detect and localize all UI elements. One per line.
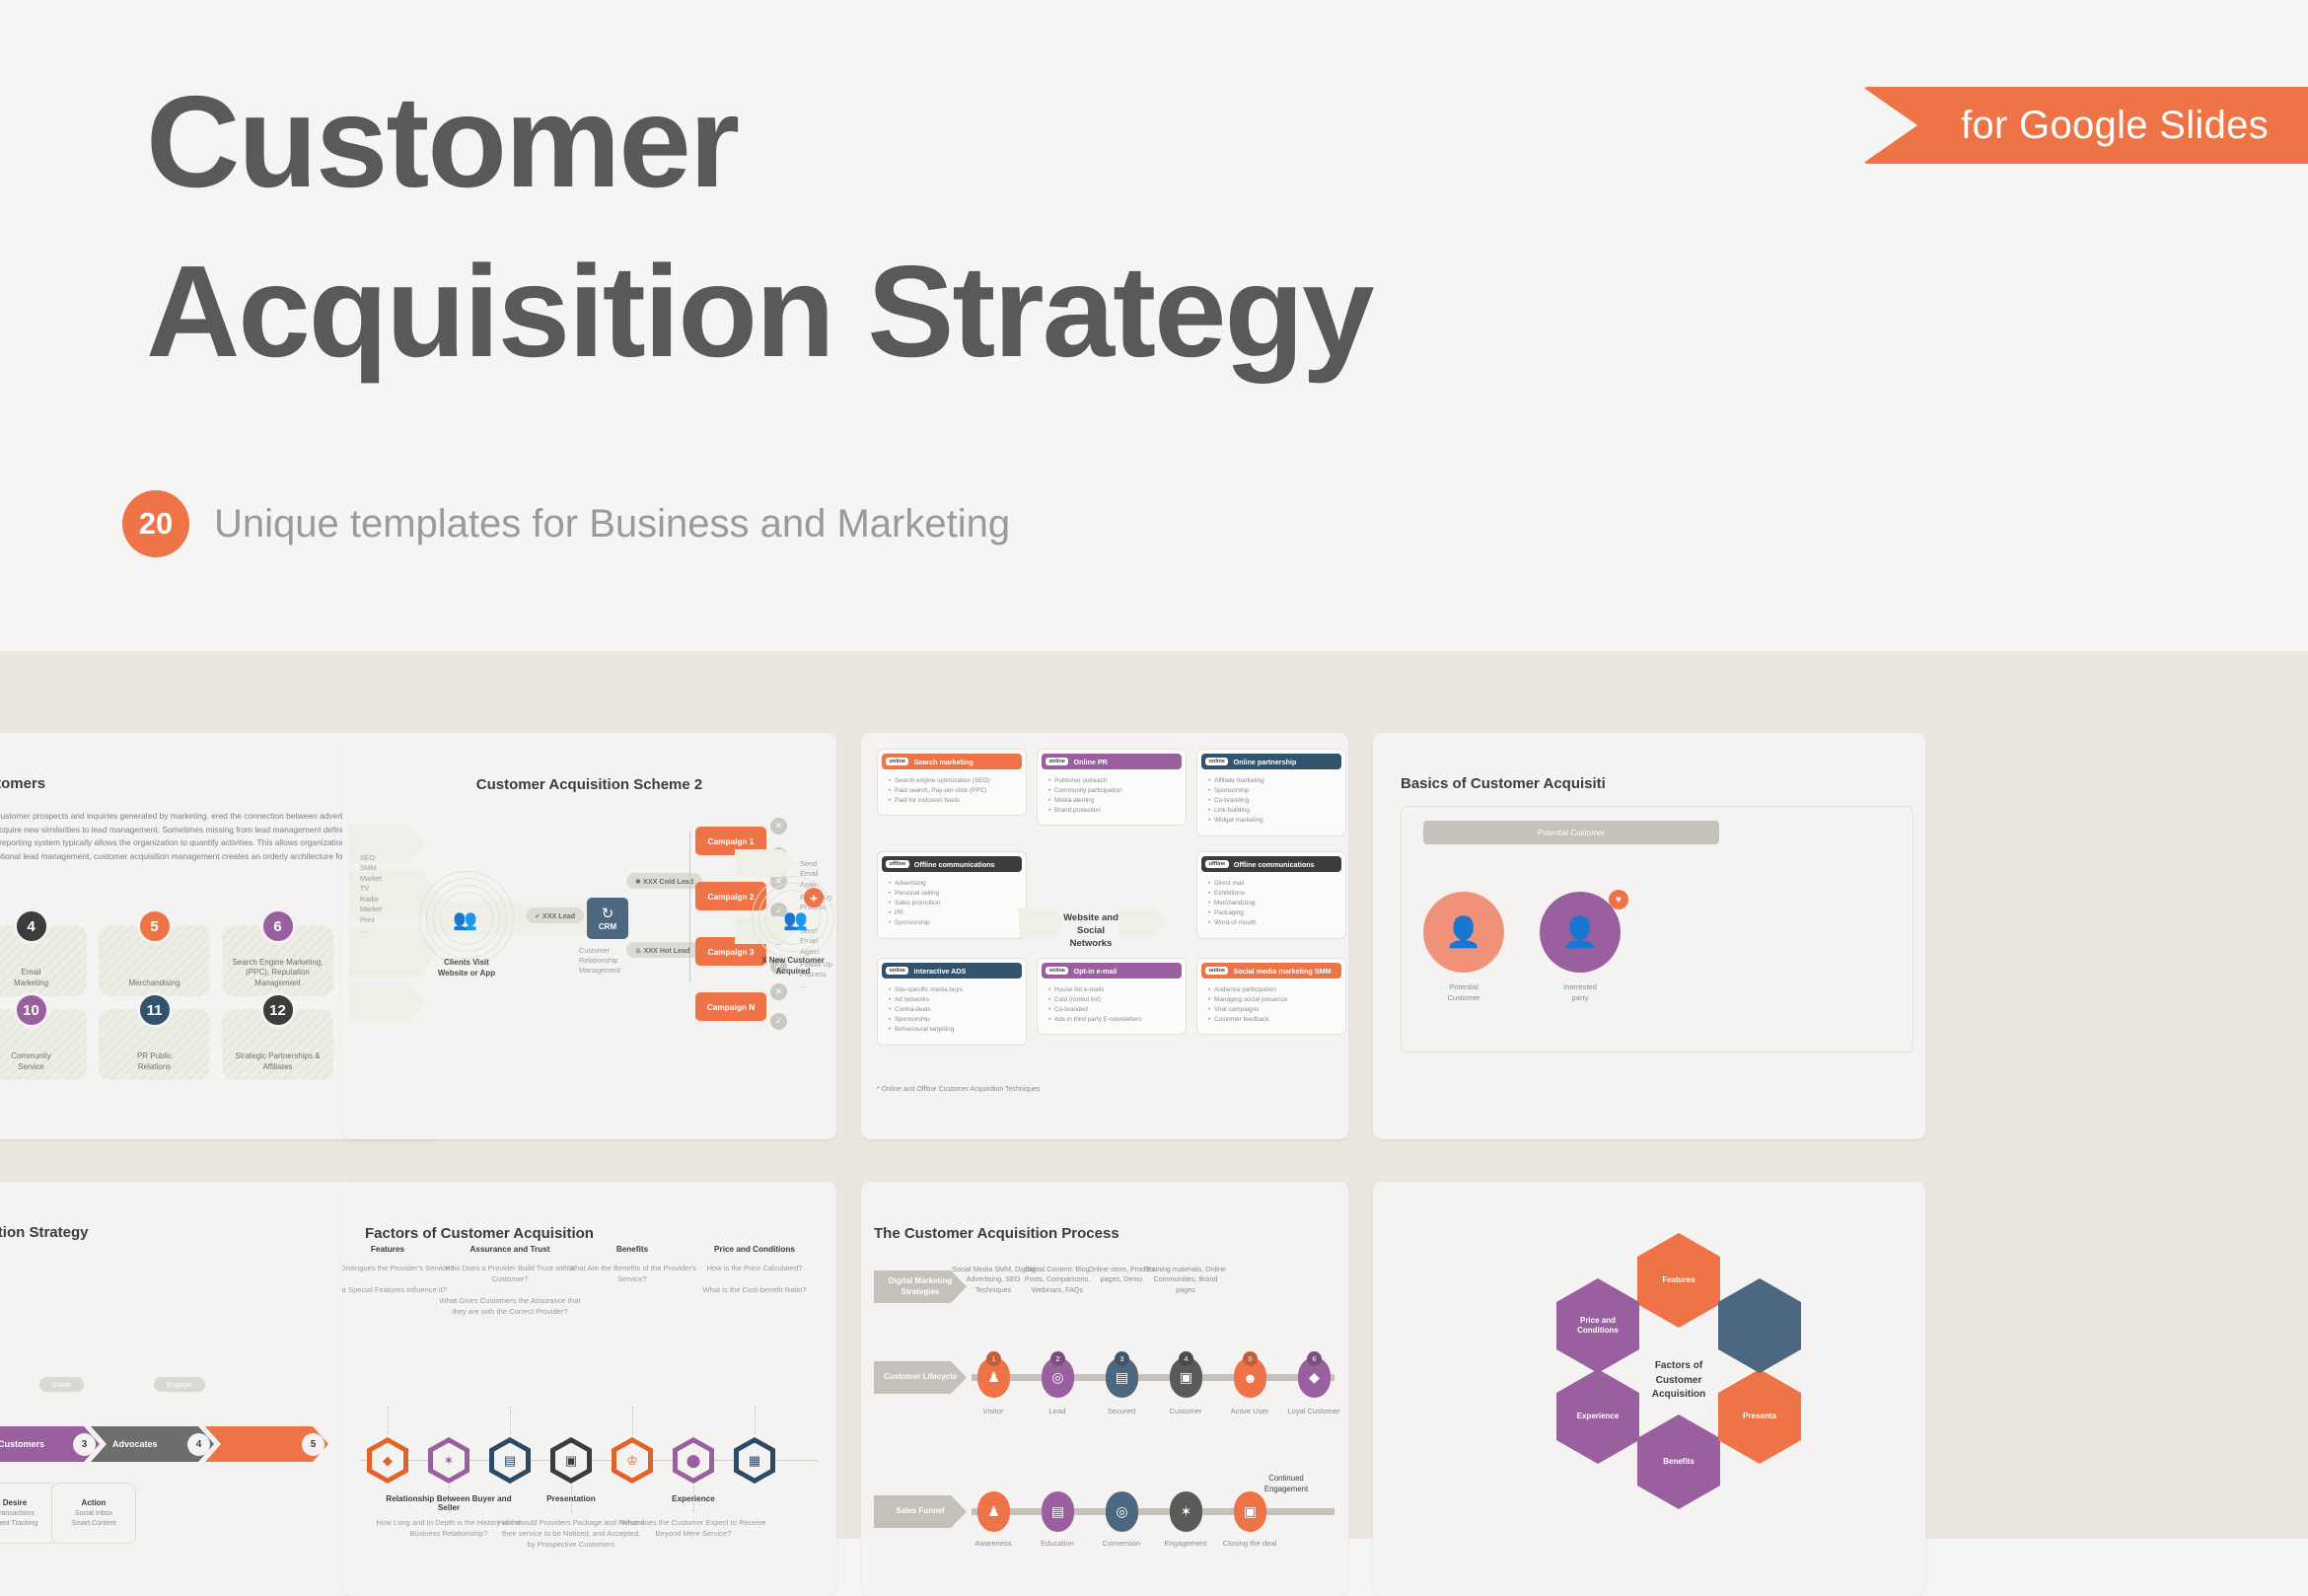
technique-item: Widget marketing bbox=[1208, 816, 1341, 826]
factor-head: Price and Conditions bbox=[690, 1245, 819, 1254]
thumb-card-scheme-2[interactable]: Customer Acquisition Scheme 2 SEO SMM Ma… bbox=[342, 733, 836, 1139]
funnel-node[interactable]: ♟ bbox=[977, 1491, 1010, 1532]
reject-icon[interactable]: ✕ bbox=[770, 818, 787, 834]
factor-body: How is the Price Calculated? What is the… bbox=[681, 1263, 829, 1295]
technique-item: Packaging bbox=[1208, 908, 1341, 918]
dotted-leader bbox=[388, 1407, 389, 1434]
chevron-shape bbox=[348, 983, 425, 1023]
card-title: Customer Acquisition Scheme 2 bbox=[342, 776, 836, 793]
wheel-segment[interactable]: Features bbox=[1637, 1233, 1720, 1328]
technique-item: Search engine optimization (SEO) bbox=[889, 776, 1022, 786]
technique-tag: online bbox=[886, 967, 908, 976]
dotted-leader bbox=[571, 1486, 572, 1513]
tile-label: Email Marketing bbox=[0, 968, 87, 988]
wheel-center-label: Factors of Customer Acquisition bbox=[1620, 1359, 1738, 1403]
technique-item: Viral campaigns bbox=[1208, 1005, 1341, 1015]
technique-box[interactable]: onlineOnline partnershipAffiliate market… bbox=[1196, 749, 1346, 836]
tile-label: Strategic Partnerships & Affiliates bbox=[222, 1052, 333, 1072]
tile-number: 5 bbox=[137, 908, 173, 944]
techniques-footnote: * Online and Offline Customer Acquisitio… bbox=[877, 1086, 1041, 1093]
tile-number: 10 bbox=[14, 992, 49, 1028]
tile-label: Community Service bbox=[0, 1052, 87, 1072]
lifecycle-rail bbox=[972, 1374, 1334, 1381]
lifecycle-node-number: 2 bbox=[1050, 1351, 1065, 1366]
ribbon-label: for Google Slides bbox=[1961, 104, 2269, 148]
factor-hexagon[interactable]: ♔ bbox=[612, 1437, 653, 1484]
lead-pill: ✓ XXX Lead bbox=[526, 907, 584, 923]
factors-wheel: FeaturesPrice and ConditionsExperienceBe… bbox=[1511, 1221, 1846, 1557]
card-title: Factors of Customer Acquisition bbox=[365, 1225, 594, 1242]
technique-box[interactable]: onlineSearch marketingSearch engine opti… bbox=[877, 749, 1027, 816]
dotted-leader bbox=[449, 1486, 450, 1513]
stage-number: 3 bbox=[73, 1433, 96, 1456]
campaign-box[interactable]: Campaign N bbox=[695, 992, 766, 1021]
technique-item: House list e-mails bbox=[1048, 985, 1182, 995]
technique-box-header: onlineInteractive ADS bbox=[882, 963, 1022, 979]
lane-label: Customer Lifecycle bbox=[884, 1372, 957, 1382]
crm-label: CRM bbox=[599, 922, 616, 931]
technique-box-header: onlineSocial media marketing SMM bbox=[1201, 963, 1341, 979]
technique-item-list: Publisher outreachCommunity participatio… bbox=[1048, 776, 1182, 816]
reject-icon[interactable]: ✕ bbox=[770, 983, 787, 1000]
technique-item: Managing social presence bbox=[1208, 995, 1341, 1005]
tile-number: 12 bbox=[260, 992, 296, 1028]
lifecycle-node-number: 4 bbox=[1179, 1351, 1193, 1366]
technique-item: Ads in third party E-newsletters bbox=[1048, 1015, 1182, 1025]
stage-pill: Engage bbox=[154, 1377, 205, 1392]
acquired-caption: X New Customer Acquired bbox=[744, 956, 836, 978]
technique-box[interactable]: offlineOffline communicationsAdvertising… bbox=[877, 851, 1027, 939]
detail-sub: Social Inbox Smart Content bbox=[71, 1509, 115, 1528]
people-icon: 👥 bbox=[783, 907, 808, 932]
technique-item: Merchandizing bbox=[1208, 899, 1341, 908]
factor-head: Features bbox=[342, 1245, 452, 1254]
technique-tag: online bbox=[886, 758, 908, 766]
funnel-node[interactable]: ◎ bbox=[1106, 1491, 1138, 1532]
technique-item: Contra-deals bbox=[889, 1005, 1022, 1015]
acquisition-tile[interactable]: 6Search Engine Marketing, (PPC), Reputat… bbox=[222, 925, 333, 996]
dotted-leader bbox=[693, 1486, 694, 1513]
chevron-shape bbox=[1119, 908, 1165, 938]
heart-icon: ♥ bbox=[1609, 890, 1628, 909]
technique-title: Offline communications bbox=[1234, 860, 1315, 869]
card-title: Basics of Customer Acquisiti bbox=[1401, 775, 1606, 792]
technique-item: Cold (rented list) bbox=[1048, 995, 1182, 1005]
technique-title: Offline communications bbox=[914, 860, 995, 869]
technique-box-header: onlineOpt-in e-mail bbox=[1042, 963, 1182, 979]
technique-item: Customer feedback bbox=[1208, 1015, 1341, 1025]
detail-head: Desire bbox=[3, 1498, 27, 1507]
technique-tag: offline bbox=[886, 860, 909, 869]
technique-title: Interactive ADS bbox=[913, 967, 966, 976]
technique-tag: online bbox=[1205, 758, 1228, 766]
factor-icon: ▦ bbox=[739, 1443, 770, 1479]
factor-hexagon[interactable]: ▦ bbox=[734, 1437, 775, 1484]
technique-box-header: onlineOnline partnership bbox=[1201, 754, 1341, 769]
technique-item-list: AdvertisingPersonal sellingSales promoti… bbox=[889, 879, 1022, 929]
card-title: Customer Acquisition Strategy bbox=[0, 1224, 88, 1241]
detail-head: Action bbox=[82, 1498, 107, 1507]
technique-box[interactable]: offlineOffline communicationsDirect mail… bbox=[1196, 851, 1346, 939]
card-title: The Customer Acquisition Process bbox=[874, 1225, 1119, 1242]
subtitle-row: 20 Unique templates for Business and Mar… bbox=[122, 490, 1010, 557]
avatar-label: Potential Customer bbox=[1414, 982, 1513, 1003]
tile-number: 4 bbox=[14, 908, 49, 944]
technique-item: Site-specific media buys bbox=[889, 985, 1022, 995]
technique-box[interactable]: onlineSocial media marketing SMMAudience… bbox=[1196, 958, 1346, 1035]
tile-label: PR Public Relations bbox=[99, 1052, 210, 1072]
basics-panel: Potential Customer 👤 👤 ♥ Potential Custo… bbox=[1401, 806, 1913, 1052]
card-title: for Acquiring Customers bbox=[0, 775, 45, 792]
factor-icon: ◆ bbox=[372, 1443, 403, 1479]
technique-item: Exhibitions bbox=[1208, 889, 1341, 899]
technique-item: Media alerting bbox=[1048, 796, 1182, 806]
avatar-label: Interested party bbox=[1531, 982, 1629, 1003]
technique-tag: offline bbox=[1205, 860, 1229, 869]
cold-lead-pill: ✵ XXX Cold Lead bbox=[626, 873, 702, 889]
interested-party-avatar: 👤 bbox=[1540, 892, 1621, 973]
strategy-caption: Training materials, Online Communities, … bbox=[1144, 1265, 1227, 1295]
accept-icon[interactable]: ✓ bbox=[770, 1013, 787, 1030]
technique-item-list: Site-specific media buysAd networksContr… bbox=[889, 985, 1022, 1036]
factor-hexagon[interactable]: ▤ bbox=[489, 1437, 531, 1484]
thumb-card-factors-wheel[interactable]: FeaturesPrice and ConditionsExperienceBe… bbox=[1373, 1182, 1925, 1596]
plus-badge: + bbox=[804, 888, 824, 907]
technique-box-header: onlineOnline PR bbox=[1042, 754, 1182, 769]
funnel-rail bbox=[972, 1508, 1334, 1515]
source-channels-list: SEO SMM Market TV Radio Market Print ... bbox=[360, 853, 382, 936]
funnel-node[interactable]: ▤ bbox=[1042, 1491, 1074, 1532]
technique-box[interactable]: onlineOpt-in e-mailHouse list e-mailsCol… bbox=[1037, 958, 1187, 1035]
lifecycle-node-number: 5 bbox=[1243, 1351, 1258, 1366]
technique-item: Sponsorship bbox=[1208, 786, 1341, 796]
technique-item-list: House list e-mailsCold (rented list)Co-b… bbox=[1048, 985, 1182, 1025]
stage-detail-box[interactable]: DesireTransactions Event Tracking bbox=[0, 1483, 57, 1544]
subtitle-text: Unique templates for Business and Market… bbox=[214, 502, 1010, 546]
technique-item-list: Direct mailExhibitionsMerchandizingPacka… bbox=[1208, 879, 1341, 929]
technique-item: Personal selling bbox=[889, 889, 1022, 899]
technique-title: Online partnership bbox=[1233, 758, 1296, 766]
technique-item: Paid for inclusion feeds bbox=[889, 796, 1022, 806]
tile-label: Merchandising bbox=[99, 979, 210, 988]
technique-item: Sponsorship bbox=[889, 1015, 1022, 1025]
acquisition-tile[interactable]: 10Community Service bbox=[0, 1009, 87, 1080]
lane-label: Sales Funnel bbox=[896, 1506, 944, 1516]
technique-item: Co-branded bbox=[1048, 1005, 1182, 1015]
title-line-2: Acquisition Strategy bbox=[146, 247, 1625, 377]
title-line-1: Customer bbox=[146, 69, 738, 214]
continued-engagement-label: Continued Engagement bbox=[1242, 1474, 1331, 1495]
factor-hexagon[interactable]: ✶ bbox=[428, 1437, 469, 1484]
potential-customer-bar: Potential Customer bbox=[1423, 821, 1719, 844]
technique-item: PR bbox=[889, 908, 1022, 918]
technique-item: Direct mail bbox=[1208, 879, 1341, 889]
technique-title: Opt-in e-mail bbox=[1073, 967, 1117, 976]
dotted-leader bbox=[755, 1407, 756, 1434]
factor-icon: ▤ bbox=[494, 1443, 526, 1479]
thumb-card-techniques[interactable]: onlineSearch marketingSearch engine opti… bbox=[861, 733, 1348, 1139]
technique-item: Behavioural targeting bbox=[889, 1025, 1022, 1035]
refresh-icon: ↻ bbox=[602, 907, 614, 921]
people-icon: 👥 bbox=[453, 907, 477, 932]
technique-title: Social media marketing SMM bbox=[1233, 967, 1331, 976]
technique-item: Link-building bbox=[1208, 806, 1341, 816]
factor-hexagon[interactable]: ⬤ bbox=[673, 1437, 714, 1484]
stage-number: 4 bbox=[187, 1433, 210, 1456]
lifecycle-node-number: 1 bbox=[986, 1351, 1001, 1366]
technique-item: Advertising bbox=[889, 879, 1022, 889]
clients-visit-caption: Clients Visit Website or App bbox=[417, 958, 516, 979]
technique-item: Sponsorship bbox=[889, 918, 1022, 928]
technique-box[interactable]: onlineInteractive ADSSite-specific media… bbox=[877, 958, 1027, 1046]
technique-item: Ad networks bbox=[889, 995, 1022, 1005]
funnel-node-label: Closing the deal bbox=[1210, 1539, 1289, 1548]
technique-item: Sales promotion bbox=[889, 899, 1022, 908]
technique-box-header: offlineOffline communications bbox=[1201, 856, 1341, 872]
factor-hexagon[interactable]: ◆ bbox=[367, 1437, 408, 1484]
page-title: Customer Acquisition Strategy bbox=[146, 77, 1625, 377]
technique-item: Word-of-mouth bbox=[1208, 918, 1341, 928]
google-slides-ribbon: for Google Slides bbox=[1862, 87, 2308, 164]
factor-icon: ▣ bbox=[555, 1443, 587, 1479]
hot-lead-pill: ♨ XXX Hot Lead bbox=[626, 942, 699, 958]
stage-detail-box[interactable]: ActionSocial Inbox Smart Content bbox=[51, 1483, 136, 1544]
detail-sub: Transactions Event Tracking bbox=[0, 1509, 37, 1528]
factor-icon: ⬤ bbox=[678, 1443, 709, 1479]
tile-label: Search Engine Marketing, (PPC), Reputati… bbox=[222, 958, 333, 988]
factor-hexagon[interactable]: ▣ bbox=[550, 1437, 592, 1484]
lane-sales-funnel: Sales Funnel bbox=[874, 1495, 967, 1528]
funnel-node[interactable]: ✶ bbox=[1170, 1491, 1202, 1532]
acquisition-tile[interactable]: 12Strategic Partnerships & Affiliates bbox=[222, 1009, 333, 1080]
tile-number: 6 bbox=[260, 908, 296, 944]
dotted-leader bbox=[632, 1407, 633, 1434]
lifecycle-node-label: Loyal Customer bbox=[1274, 1407, 1348, 1415]
technique-tag: online bbox=[1205, 967, 1228, 976]
technique-item: Community participation bbox=[1048, 786, 1182, 796]
potential-customer-avatar: 👤 bbox=[1423, 892, 1504, 973]
factor-body: What does the Customer Expect to Receive… bbox=[619, 1517, 767, 1539]
technique-box-header: onlineSearch marketing bbox=[882, 754, 1022, 769]
technique-item: Paid search, Pay-per-click (PPC) bbox=[889, 786, 1022, 796]
factor-head: Assurance and Trust bbox=[446, 1245, 574, 1254]
technique-item: Co-branding bbox=[1208, 796, 1341, 806]
technique-item: Publisher outreach bbox=[1048, 776, 1182, 786]
technique-item-list: Search engine optimization (SEO)Paid sea… bbox=[889, 776, 1022, 806]
avatar-label-text: Potential Customer bbox=[1448, 982, 1480, 1002]
acquisition-tile[interactable]: 5Merchandising bbox=[99, 925, 210, 996]
dotted-leader bbox=[510, 1407, 511, 1434]
connector bbox=[689, 832, 690, 981]
stage-number: 5 bbox=[302, 1433, 325, 1456]
lane-customer-lifecycle: Customer Lifecycle bbox=[874, 1361, 967, 1394]
technique-title: Search marketing bbox=[913, 758, 973, 766]
lifecycle-node-number: 6 bbox=[1307, 1351, 1322, 1366]
thumb-card-factors[interactable]: Factors of Customer Acquisition ◆Feature… bbox=[342, 1182, 836, 1596]
thumb-card-process[interactable]: The Customer Acquisition Process Digital… bbox=[861, 1182, 1348, 1596]
technique-item: Audience participation bbox=[1208, 985, 1341, 995]
tile-number: 11 bbox=[137, 992, 173, 1028]
lifecycle-node-number: 3 bbox=[1115, 1351, 1129, 1366]
stage-pill: Close bbox=[39, 1377, 84, 1392]
technique-item: Brand protection bbox=[1048, 806, 1182, 816]
factor-icon: ✶ bbox=[433, 1443, 465, 1479]
acquisition-tile[interactable]: 4Email Marketing bbox=[0, 925, 87, 996]
crm-box: ↻ CRM bbox=[587, 898, 628, 939]
technique-item: Affiliate marketing bbox=[1208, 776, 1341, 786]
technique-title: Online PR bbox=[1073, 758, 1107, 766]
wheel-segment[interactable]: Benefits bbox=[1637, 1415, 1720, 1509]
technique-box[interactable]: onlineOnline PRPublisher outreachCommuni… bbox=[1037, 749, 1187, 826]
factor-icon: ♔ bbox=[616, 1443, 648, 1479]
thumb-card-basics[interactable]: Basics of Customer Acquisiti Potential C… bbox=[1373, 733, 1925, 1139]
factor-head: Benefits bbox=[568, 1245, 696, 1254]
hero-banner: Customer Acquisition Strategy for Google… bbox=[0, 0, 2308, 651]
technique-box-header: offlineOffline communications bbox=[882, 856, 1022, 872]
technique-item-list: Affiliate marketingSponsorshipCo-brandin… bbox=[1208, 776, 1341, 827]
avatar-label-text: Interested party bbox=[1563, 982, 1597, 1002]
technique-item-list: Audience participationManaging social pr… bbox=[1208, 985, 1341, 1025]
funnel-node[interactable]: ▣ bbox=[1234, 1491, 1266, 1532]
template-count-badge: 20 bbox=[122, 490, 189, 557]
technique-tag: online bbox=[1046, 758, 1068, 766]
template-thumbnail-grid: for Acquiring Customers niques and strat… bbox=[0, 651, 2308, 1539]
technique-tag: online bbox=[1046, 967, 1068, 976]
acquisition-tile[interactable]: 11PR Public Relations bbox=[99, 1009, 210, 1080]
